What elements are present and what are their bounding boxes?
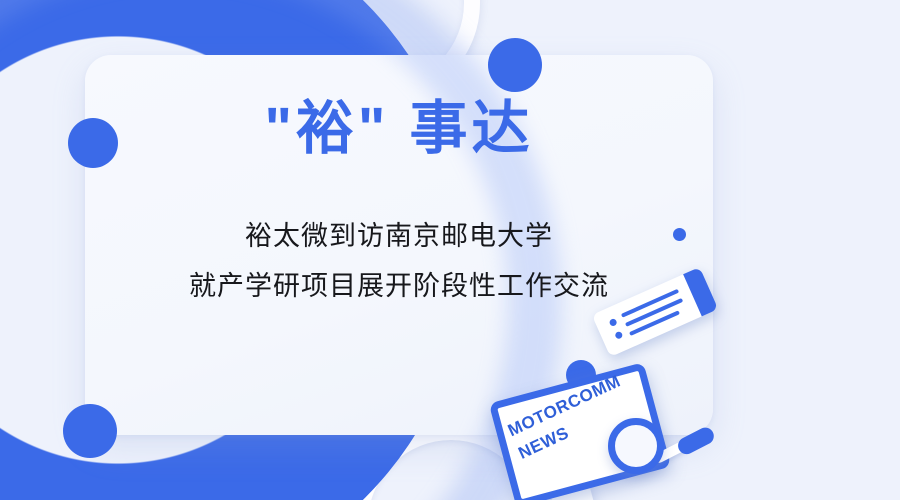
magnifier-icon (608, 418, 664, 474)
page-title: "裕" 事达 (85, 99, 713, 160)
blue-dot-small-icon (673, 228, 686, 241)
subtitle-block: 裕太微到访南京邮电大学 就产学研项目展开阶段性工作交流 (85, 211, 713, 311)
blue-circle-top-icon (488, 38, 542, 92)
news-banner: "裕" 事达 裕太微到访南京邮电大学 就产学研项目展开阶段性工作交流 MOTOR… (0, 0, 900, 500)
blue-dot-bottom-left-icon (63, 404, 117, 458)
blue-dot-left-icon (68, 118, 118, 168)
subtitle-line-1: 裕太微到访南京邮电大学 (85, 211, 713, 261)
